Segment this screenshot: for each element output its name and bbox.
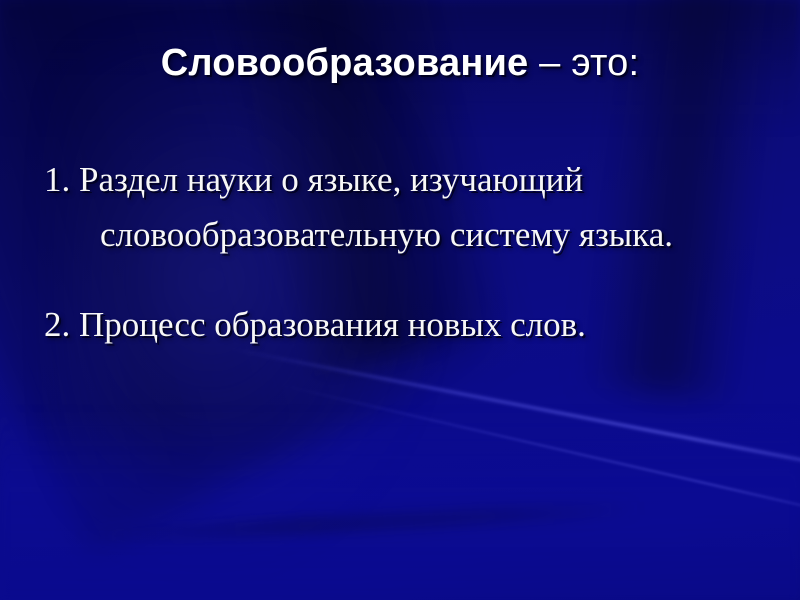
slide-title-term: Словообразование bbox=[161, 42, 529, 84]
list-item: 2. Процесс образования новых слов. bbox=[44, 297, 752, 352]
presentation-slide: Словообразование – это: 1. Раздел науки … bbox=[0, 0, 800, 600]
list-item-text: Раздел науки о языке, изучающий словообр… bbox=[70, 160, 673, 254]
slide-title-suffix: – это: bbox=[528, 42, 639, 84]
list-item: 1. Раздел науки о языке, изучающий слово… bbox=[44, 152, 752, 263]
slide-title: Словообразование – это: bbox=[0, 44, 800, 84]
list-item-marker: 2. bbox=[44, 305, 70, 344]
slide-content: Словообразование – это: 1. Раздел науки … bbox=[0, 0, 800, 600]
definition-list: 1. Раздел науки о языке, изучающий слово… bbox=[44, 152, 752, 352]
list-item-text: Процесс образования новых слов. bbox=[70, 305, 586, 344]
list-item-marker: 1. bbox=[44, 160, 70, 199]
